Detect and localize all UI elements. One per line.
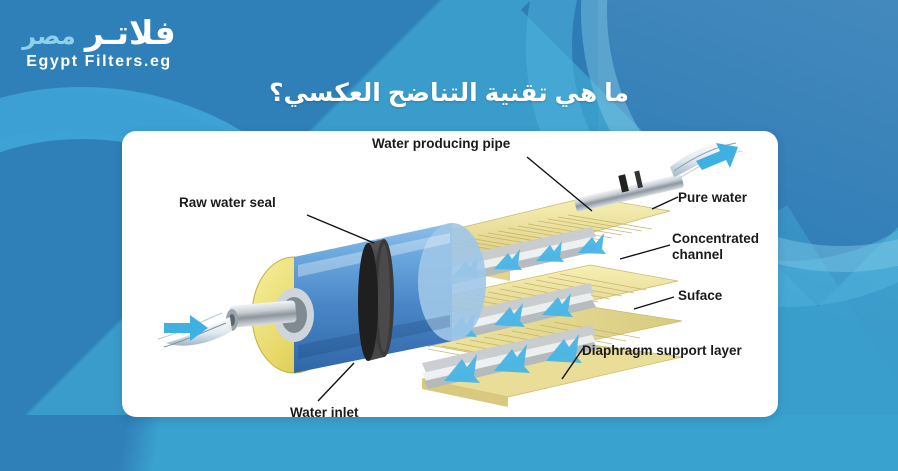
ro-membrane-illustration: [122, 131, 778, 417]
seal-ring: [358, 239, 394, 361]
logo-english-wordmark: Egypt Filters.eg: [14, 53, 184, 71]
label-diaphragm-support-layer: Diaphragm support layer: [582, 343, 742, 359]
membrane-housing: [252, 223, 486, 373]
label-suface: Suface: [678, 288, 722, 304]
brand-logo[interactable]: فلاتـر مصر Egypt Filters.eg: [14, 16, 184, 71]
label-water-inlet: Water inlet: [290, 405, 359, 417]
logo-arabic-wordmark: فلاتـر مصر: [14, 16, 184, 51]
label-concentrated-channel: Concentrated channel: [672, 231, 772, 262]
poster-canvas: فلاتـر مصر Egypt Filters.eg ما هي تقنية …: [0, 0, 898, 471]
label-pure-water: Pure water: [678, 190, 747, 206]
ro-membrane-diagram: Water producing pipe Raw water seal Pure…: [122, 131, 778, 417]
label-water-producing-pipe: Water producing pipe: [372, 136, 510, 152]
logo-arabic-main: فلاتـر: [85, 14, 176, 51]
logo-arabic-accent: مصر: [22, 23, 75, 50]
label-raw-water-seal: Raw water seal: [179, 195, 276, 211]
page-title: ما هي تقنية التناضح العكسي؟: [0, 78, 898, 108]
figure-card: Water producing pipe Raw water seal Pure…: [122, 131, 778, 417]
